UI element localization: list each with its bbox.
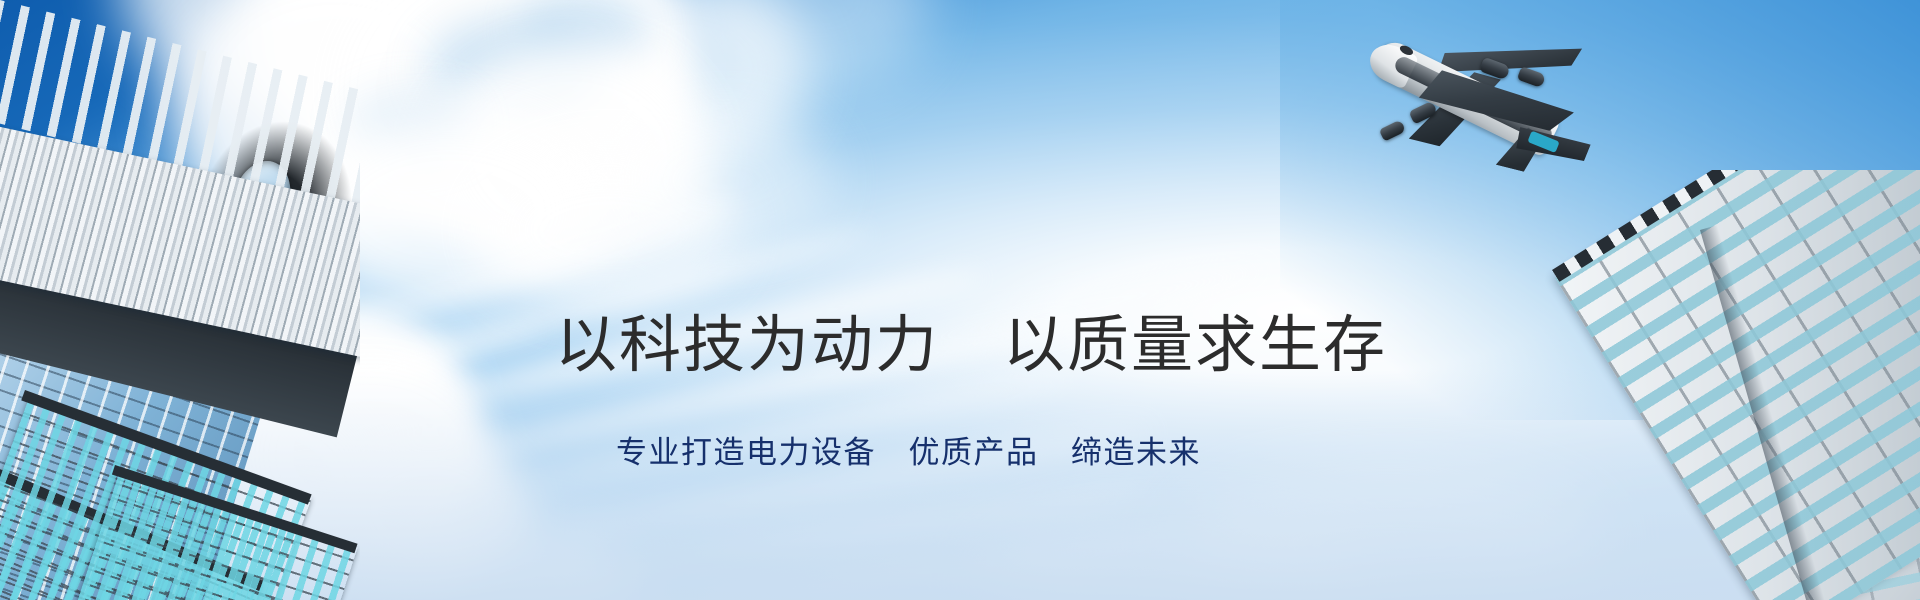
hero-banner: 以科技为动力 以质量求生存 专业打造电力设备 优质产品 缔造未来 xyxy=(0,0,1920,600)
banner-subtitle: 专业打造电力设备 优质产品 缔造未来 xyxy=(616,434,1201,473)
skyscraper-left xyxy=(0,0,360,600)
airplane-icon xyxy=(1343,0,1582,207)
airplane-engine xyxy=(1517,66,1546,88)
banner-headline: 以科技为动力 以质量求生存 xyxy=(555,312,1387,377)
airplane-engine xyxy=(1379,119,1406,141)
skyscraper-right xyxy=(1500,170,1920,600)
